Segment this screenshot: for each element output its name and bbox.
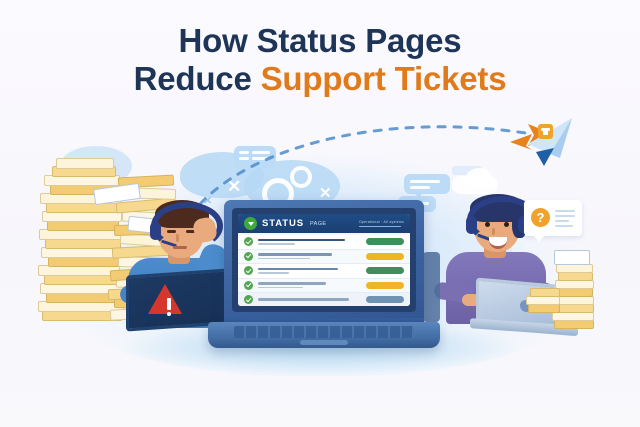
headline-accent: Support Tickets [261,60,507,97]
status-page-title-suffix: PAGE [310,221,326,227]
laptop-bezel: STATUS PAGE Operational · All systems [232,208,416,312]
status-page-meta: Operational · All systems [359,220,404,228]
status-row-text [258,298,361,301]
status-row-text [258,268,361,274]
paper-plane-icon [510,112,600,178]
illustration-canvas: How Status Pages Reduce Support Tickets … [0,0,640,427]
small-ticket-stacks [540,248,618,330]
status-logo-icon [244,217,257,230]
status-row[interactable] [238,264,410,279]
status-badge [366,296,404,303]
status-row-text [258,239,361,245]
status-row[interactable] [238,293,410,306]
check-circle-icon [244,266,253,275]
status-badge [366,267,404,274]
warning-triangle-icon [148,284,182,314]
warning-dot [167,312,171,316]
status-page-meta-bar [359,226,401,228]
check-circle-icon [244,237,253,246]
status-badge [366,238,404,245]
plane-badge-icon [538,124,553,139]
page-title: How Status Pages Reduce Support Tickets [0,22,640,97]
status-row-text [258,253,361,259]
check-circle-icon [244,295,253,304]
status-page-title: STATUS [262,218,304,229]
help-request-card: ? [524,200,582,236]
status-row[interactable] [238,235,410,250]
status-page-screen[interactable]: STATUS PAGE Operational · All systems [238,214,410,306]
status-row[interactable] [238,279,410,294]
laptop-trackpad [300,340,348,345]
status-page-meta-label: Operational · All systems [359,220,404,224]
status-row[interactable] [238,250,410,265]
headline-line-2: Reduce Support Tickets [0,60,640,98]
headset-icon [466,216,477,234]
status-page-header: STATUS PAGE Operational · All systems [238,214,410,233]
check-circle-icon [244,281,253,290]
status-page-laptop: STATUS PAGE Operational · All systems [208,200,440,348]
laptop-keys [234,326,414,338]
check-circle-icon [244,252,253,261]
laptop-lid: STATUS PAGE Operational · All systems [224,200,424,324]
status-badge [366,282,404,289]
question-mark-icon: ? [531,208,550,227]
headline-prefix: Reduce [134,60,261,97]
headset-icon [150,222,161,240]
headline-line-1: How Status Pages [0,22,640,60]
laptop-keyboard-base [208,322,440,348]
status-row-list [238,233,410,306]
status-badge [366,253,404,260]
status-row-text [258,282,361,288]
warning-exclamation [167,298,171,310]
